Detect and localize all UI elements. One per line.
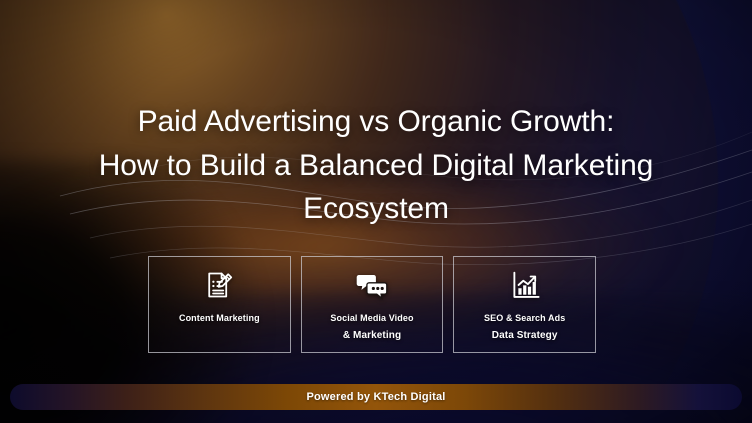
feature-card-label-line-1: Content Marketing (179, 311, 260, 327)
slide-title-line-2: How to Build a Balanced Digital Marketin… (0, 144, 752, 188)
feature-card-label-line-2: Data Strategy (484, 327, 565, 345)
feature-card-seo-search-ads[interactable]: SEO & Search Ads Data Strategy (453, 256, 596, 353)
slide-title-line-1: Paid Advertising vs Organic Growth: (0, 100, 752, 144)
feature-card-label: Content Marketing (179, 311, 260, 327)
document-pencil-icon (202, 268, 236, 302)
feature-card-label-line-1: SEO & Search Ads (484, 311, 565, 327)
presentation-slide: Paid Advertising vs Organic Growth: How … (0, 0, 752, 423)
footer-banner: Powered by KTech Digital (10, 384, 742, 410)
feature-card-row: Content Marketing Social Media Video & M… (148, 256, 596, 353)
feature-card-label: SEO & Search Ads Data Strategy (484, 311, 565, 344)
slide-title-line-3: Ecosystem (0, 187, 752, 231)
feature-card-label: Social Media Video & Marketing (330, 311, 413, 344)
footer-branding-text: Powered by KTech Digital (306, 391, 445, 403)
feature-card-label-line-1: Social Media Video (330, 311, 413, 327)
feature-card-content-marketing[interactable]: Content Marketing (148, 256, 291, 353)
feature-card-social-media-video[interactable]: Social Media Video & Marketing (301, 256, 444, 353)
feature-card-label-line-2: & Marketing (330, 327, 413, 345)
bar-chart-trend-icon (508, 268, 542, 302)
chat-bubbles-icon (355, 268, 389, 302)
slide-title: Paid Advertising vs Organic Growth: How … (0, 100, 752, 231)
